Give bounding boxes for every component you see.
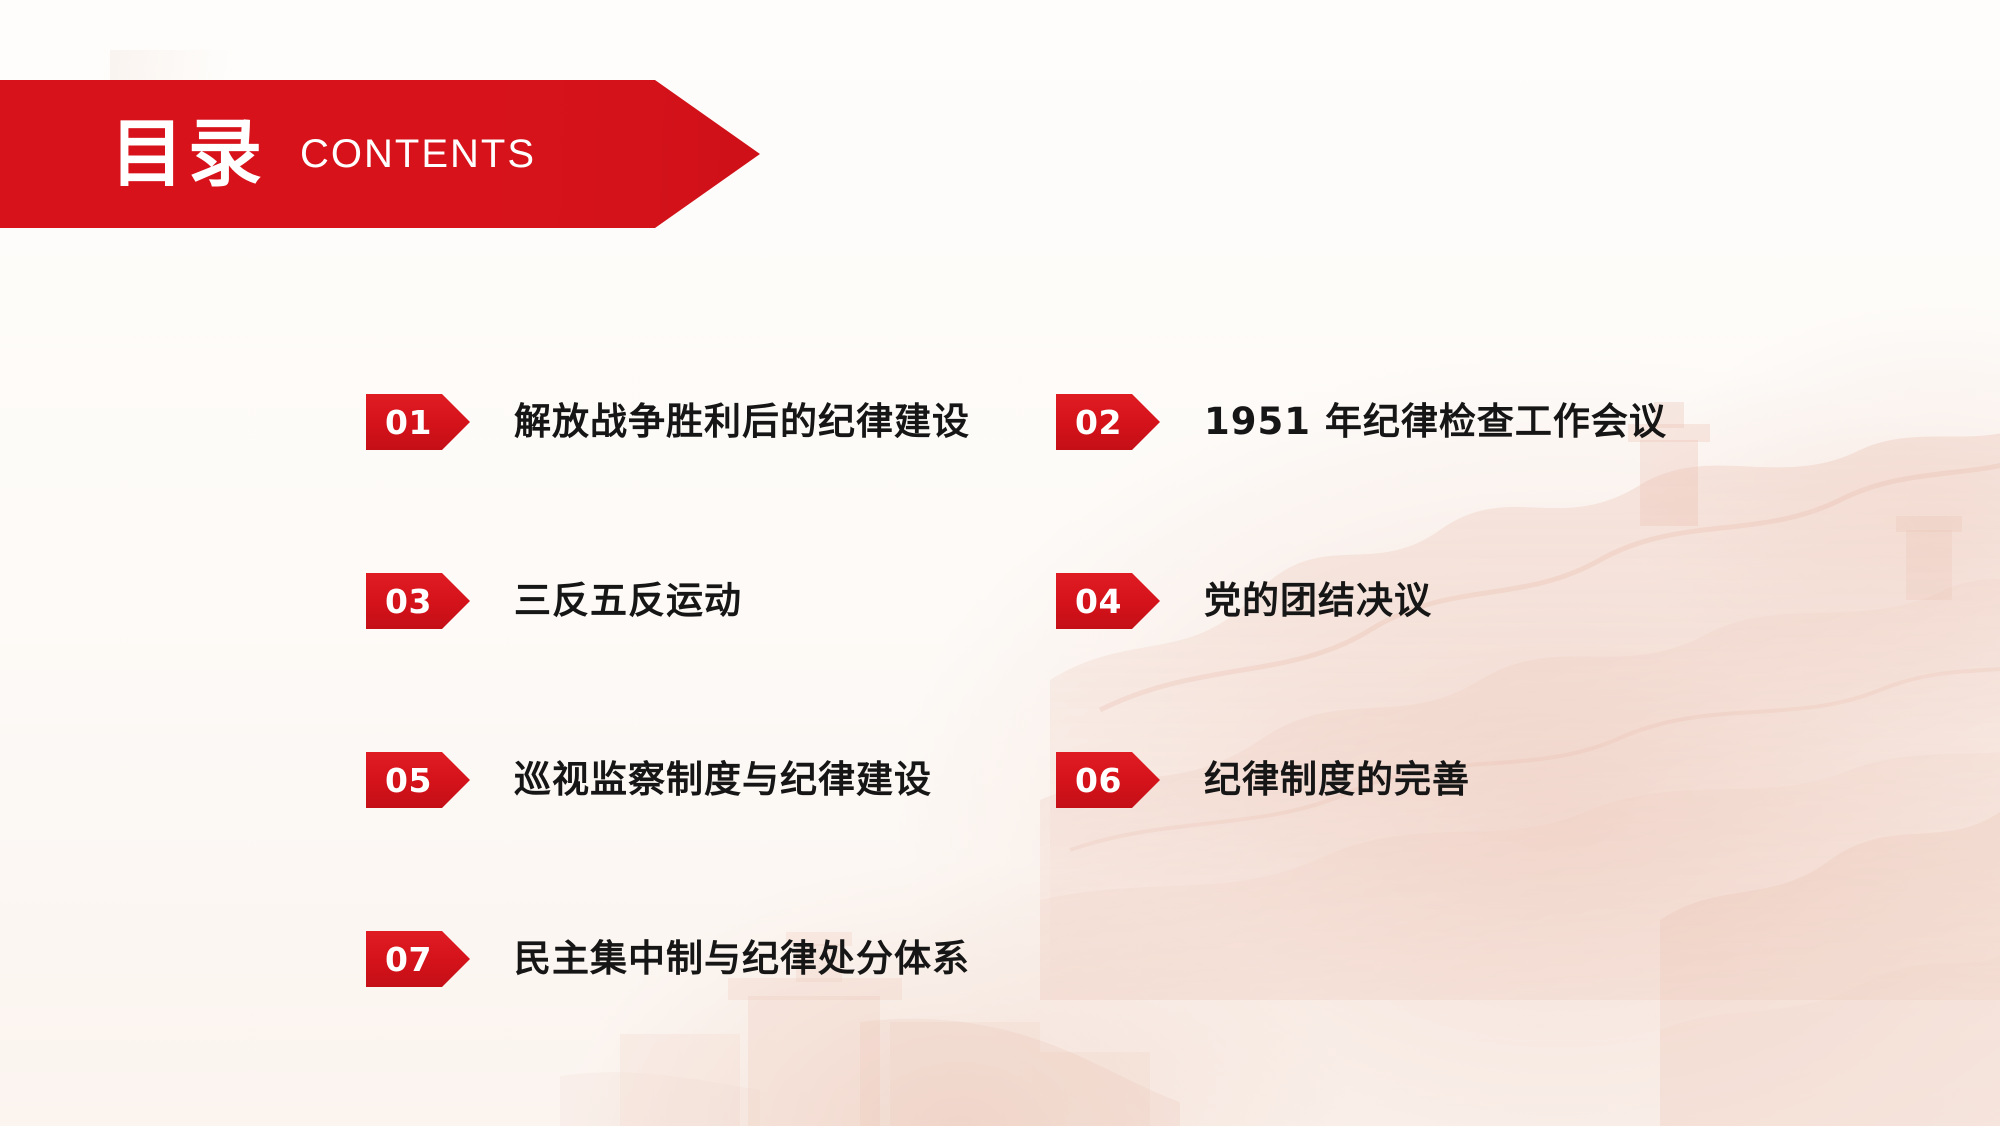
toc-item-02[interactable]: 02 1951 年纪律检查工作会议 xyxy=(1056,388,1746,456)
toc-number-badge-04: 04 xyxy=(1056,573,1160,629)
toc-number-06: 06 xyxy=(1075,764,1122,797)
toc-label-07: 民主集中制与纪律处分体系 xyxy=(514,939,970,980)
presentation-slide: 目录 CONTENTS 01 解放战争胜利后的纪律建设 02 1951 年纪律检… xyxy=(0,0,2000,1126)
toc-label-04: 党的团结决议 xyxy=(1204,581,1432,622)
table-of-contents: 01 解放战争胜利后的纪律建设 02 1951 年纪律检查工作会议 03 三反五… xyxy=(366,388,1746,1104)
toc-item-05[interactable]: 05 巡视监察制度与纪律建设 xyxy=(366,746,1056,814)
toc-number-07: 07 xyxy=(385,943,432,976)
toc-item-03[interactable]: 03 三反五反运动 xyxy=(366,567,1056,635)
toc-number-04: 04 xyxy=(1075,585,1122,618)
page-subtitle: CONTENTS xyxy=(300,134,536,174)
page-title: 目录 xyxy=(110,117,266,191)
toc-number-badge-03: 03 xyxy=(366,573,470,629)
toc-item-04[interactable]: 04 党的团结决议 xyxy=(1056,567,1746,635)
toc-label-05: 巡视监察制度与纪律建设 xyxy=(514,760,932,801)
toc-number-01: 01 xyxy=(385,406,432,439)
toc-number-badge-06: 06 xyxy=(1056,752,1160,808)
toc-item-06[interactable]: 06 纪律制度的完善 xyxy=(1056,746,1746,814)
toc-number-05: 05 xyxy=(385,764,432,797)
toc-label-06: 纪律制度的完善 xyxy=(1204,760,1470,801)
toc-item-01[interactable]: 01 解放战争胜利后的纪律建设 xyxy=(366,388,1056,456)
toc-number-02: 02 xyxy=(1075,406,1122,439)
toc-number-badge-02: 02 xyxy=(1056,394,1160,450)
toc-label-03: 三反五反运动 xyxy=(514,581,742,622)
contents-header-banner: 目录 CONTENTS xyxy=(0,80,760,228)
toc-number-badge-01: 01 xyxy=(366,394,470,450)
toc-number-03: 03 xyxy=(385,585,432,618)
toc-item-07[interactable]: 07 民主集中制与纪律处分体系 xyxy=(366,925,1056,993)
toc-label-01: 解放战争胜利后的纪律建设 xyxy=(514,402,970,443)
toc-number-badge-05: 05 xyxy=(366,752,470,808)
toc-label-02: 1951 年纪律检查工作会议 xyxy=(1204,402,1667,443)
toc-number-badge-07: 07 xyxy=(366,931,470,987)
